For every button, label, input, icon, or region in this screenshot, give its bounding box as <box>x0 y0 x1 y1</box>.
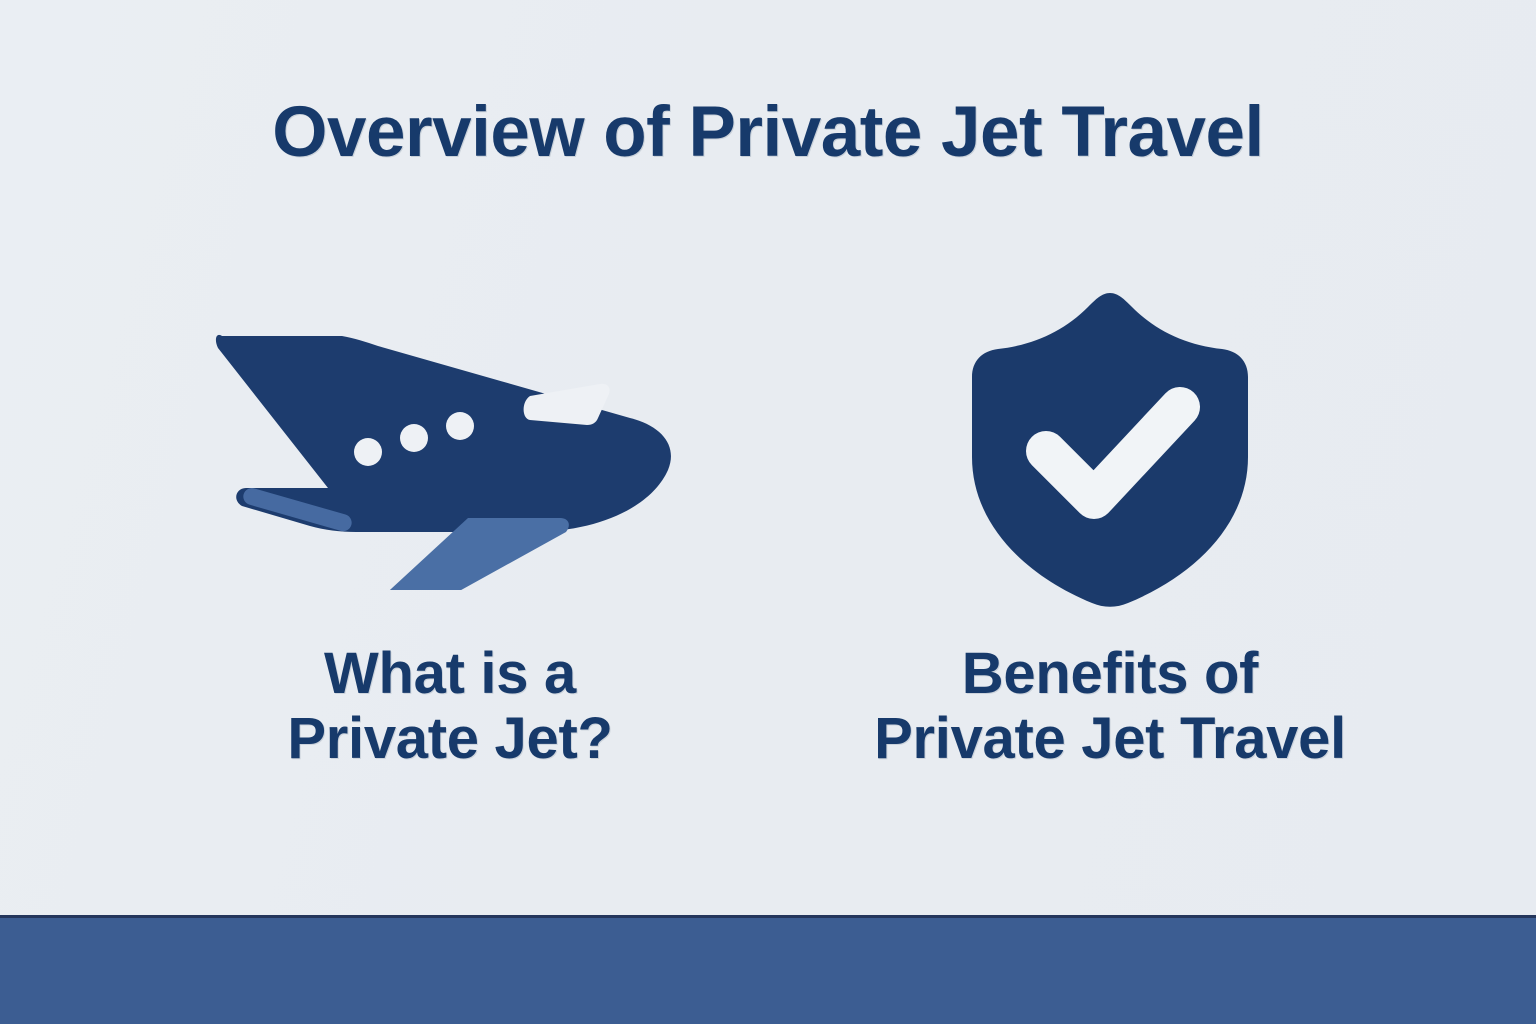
shield-check-icon-wrap <box>850 280 1370 620</box>
jet-cabin-window-1 <box>354 438 382 466</box>
jet-cabin-window-3 <box>446 412 474 440</box>
column-left-label: What is a Private Jet? <box>190 642 710 772</box>
private-jet-icon-wrap <box>190 280 710 620</box>
column-left-label-line-1: What is a <box>190 642 710 707</box>
jet-cabin-window-2 <box>400 424 428 452</box>
column-benefits-of-private-jet-travel[interactable]: Benefits of Private Jet Travel <box>850 280 1370 840</box>
slide-canvas: Overview of Private Jet Travel What is a… <box>0 0 1536 1024</box>
shield-shape <box>972 293 1248 607</box>
column-right-label: Benefits of Private Jet Travel <box>850 642 1370 772</box>
jet-cockpit-window <box>524 384 610 425</box>
column-what-is-a-private-jet[interactable]: What is a Private Jet? <box>190 280 710 840</box>
page-title: Overview of Private Jet Travel <box>0 97 1536 168</box>
shield-check-icon <box>960 285 1260 615</box>
private-jet-icon <box>200 310 700 590</box>
bottom-accent-bar <box>0 915 1536 1024</box>
column-left-label-line-2: Private Jet? <box>190 707 710 772</box>
column-right-label-line-2: Private Jet Travel <box>850 707 1370 772</box>
column-right-label-line-1: Benefits of <box>850 642 1370 707</box>
